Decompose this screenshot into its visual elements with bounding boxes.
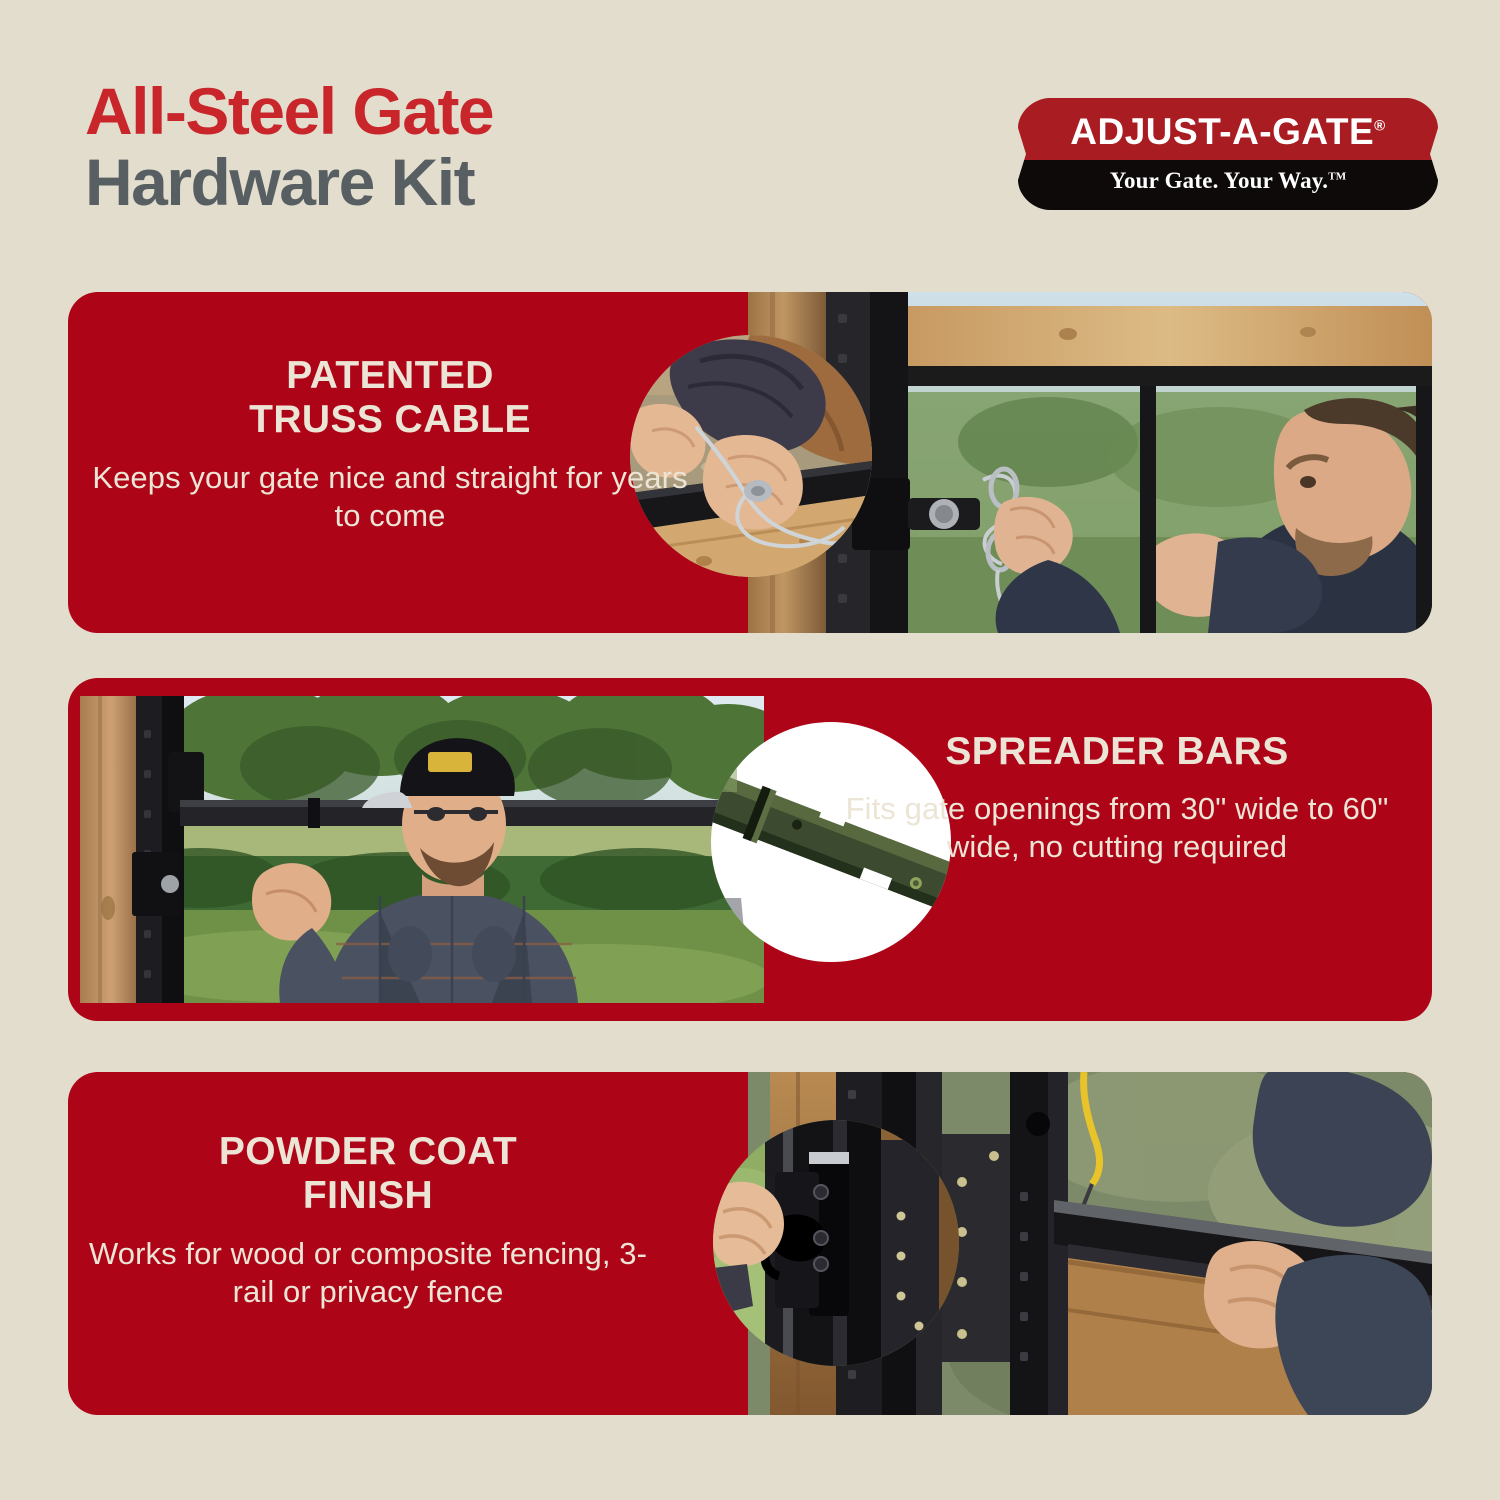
panel-2-heading: SPREADER BARS [822, 730, 1412, 774]
trademark-icon: TM [1328, 170, 1346, 182]
page-header: All-Steel Gate Hardware Kit ADJUST-A-GA [0, 0, 1500, 292]
page-title: All-Steel Gate Hardware Kit [85, 78, 493, 222]
panel-2-text-block: SPREADER BARS Fits gate openings from 30… [822, 730, 1412, 866]
inset-photo-gate-latch-closeup [713, 1120, 959, 1366]
logo-tagline: Your Gate. Your Way.TM [1018, 168, 1438, 194]
panel-3-subtext: Works for wood or composite fencing, 3-r… [78, 1235, 658, 1311]
infographic-page: All-Steel Gate Hardware Kit ADJUST-A-GA [0, 0, 1500, 1500]
registered-trademark-icon: ® [1374, 118, 1386, 135]
title-line-secondary: Hardware Kit [85, 144, 493, 222]
panel-1-heading-line1: PATENTED [80, 354, 700, 398]
panel-3-text-block: POWDER COAT FINISH Works for wood or com… [78, 1130, 658, 1311]
panel-1-subtext: Keeps your gate nice and straight for ye… [80, 459, 700, 535]
panel-3-heading: POWDER COAT FINISH [78, 1130, 658, 1219]
panel-1-text-block: PATENTED TRUSS CABLE Keeps your gate nic… [80, 354, 700, 535]
feature-panel-patented-truss-cable: PATENTED TRUSS CABLE Keeps your gate nic… [68, 292, 1432, 633]
brand-logo: ADJUST-A-GATE® Your Gate. Your Way.TM [1018, 98, 1438, 210]
panel-1-heading: PATENTED TRUSS CABLE [80, 354, 700, 443]
feature-photo-spreader-bars [80, 696, 764, 1003]
panel-2-heading-line1: SPREADER BARS [822, 730, 1412, 774]
title-line-primary: All-Steel Gate [85, 78, 493, 144]
panel-3-heading-line1: POWDER COAT [78, 1130, 658, 1174]
feature-panel-spreader-bars: SPREADER BARS Fits gate openings from 30… [68, 678, 1432, 1021]
logo-brand-name: ADJUST-A-GATE® [1018, 111, 1438, 153]
panel-1-heading-line2: TRUSS CABLE [80, 398, 700, 442]
feature-panel-powder-coat-finish: POWDER COAT FINISH Works for wood or com… [68, 1072, 1432, 1415]
panel-2-subtext: Fits gate openings from 30" wide to 60" … [822, 790, 1412, 866]
panel-3-heading-line2: FINISH [78, 1174, 658, 1218]
